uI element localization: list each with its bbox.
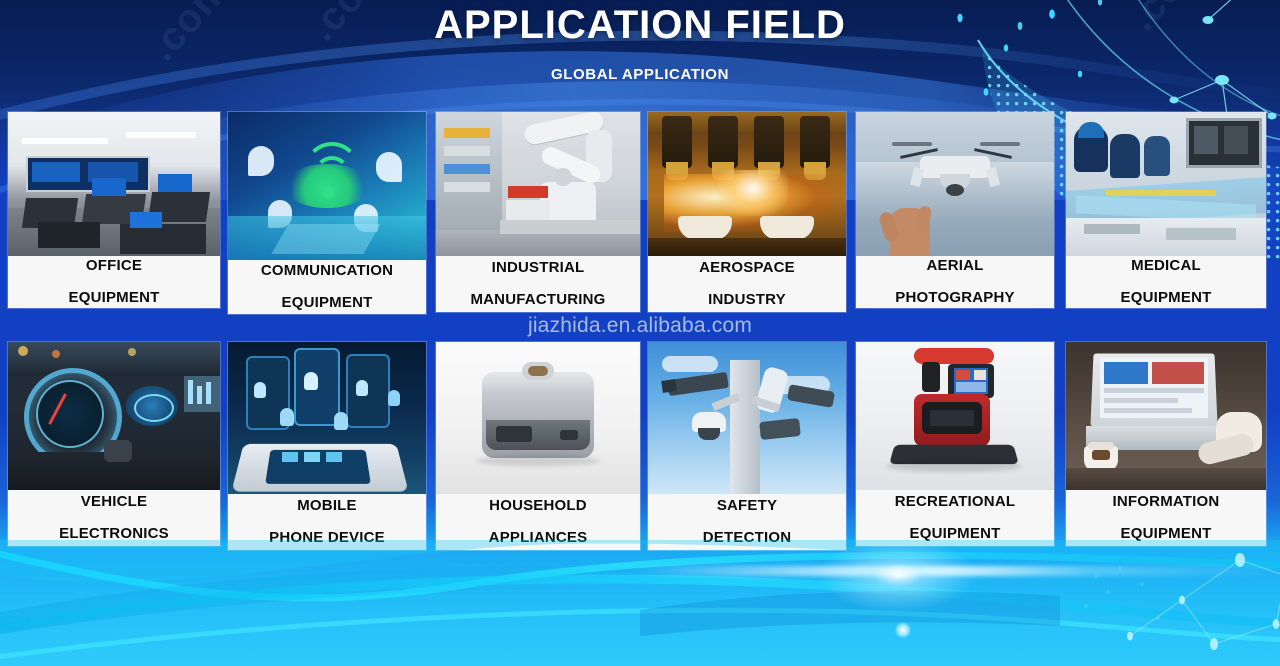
card-safety-detection[interactable]: SAFETYDETECTION <box>648 342 846 550</box>
card-label-line1: SAFETY <box>699 498 795 514</box>
card-image-industrial-manufacturing <box>436 112 640 256</box>
card-label-line1: INDUSTRIAL <box>466 260 609 276</box>
card-recreational-equipment[interactable]: RECREATIONALEQUIPMENT <box>856 342 1054 546</box>
card-image-communication-equipment <box>228 112 426 260</box>
card-label-line2: EQUIPMENT <box>1117 290 1216 306</box>
card-office-equipment[interactable]: OFFICEEQUIPMENT <box>8 112 220 308</box>
card-image-office-equipment <box>8 112 220 256</box>
poster-canvas: .com .com .com <box>0 0 1280 666</box>
card-label-line1: VEHICLE <box>55 494 173 510</box>
page-title: APPLICATION FIELD <box>0 3 1280 48</box>
card-label-line2: INDUSTRY <box>695 292 799 308</box>
card-medical-equipment[interactable]: MEDICALEQUIPMENT <box>1066 112 1266 308</box>
card-label-communication-equipment: COMMUNICATIONEQUIPMENT <box>228 260 426 314</box>
card-image-aerial-photography <box>856 112 1054 256</box>
card-label-vehicle-electronics: VEHICLEELECTRONICS <box>8 490 220 546</box>
card-label-household-appliances: HOUSEHOLDAPPLIANCES <box>436 494 640 550</box>
card-image-household-appliances <box>436 342 640 494</box>
card-image-vehicle-electronics <box>8 342 220 490</box>
card-industrial-manufacturing[interactable]: INDUSTRIALMANUFACTURING <box>436 112 640 312</box>
card-label-line1: COMMUNICATION <box>257 263 397 279</box>
card-label-line1: INFORMATION <box>1109 494 1224 510</box>
card-label-line2: EQUIPMENT <box>891 526 1019 542</box>
card-label-line2: EQUIPMENT <box>257 295 397 311</box>
card-image-mobile-phone-device <box>228 342 426 494</box>
card-household-appliances[interactable]: HOUSEHOLDAPPLIANCES <box>436 342 640 550</box>
card-label-line1: OFFICE <box>65 258 164 274</box>
card-label-line2: EQUIPMENT <box>65 290 164 306</box>
card-communication-equipment[interactable]: COMMUNICATIONEQUIPMENT <box>228 112 426 314</box>
application-card-grid: OFFICEEQUIPMENT COMMUNICATIONEQUIPMENT <box>0 112 1280 546</box>
card-label-information-equipment: INFORMATIONEQUIPMENT <box>1066 490 1266 546</box>
card-image-medical-equipment <box>1066 112 1266 256</box>
card-image-information-equipment <box>1066 342 1266 490</box>
card-label-line1: RECREATIONAL <box>891 494 1019 510</box>
card-label-line2: APPLIANCES <box>485 530 592 546</box>
card-label-line1: MEDICAL <box>1117 258 1216 274</box>
card-aerospace-industry[interactable]: AEROSPACEINDUSTRY <box>648 112 846 312</box>
card-vehicle-electronics[interactable]: VEHICLEELECTRONICS <box>8 342 220 546</box>
card-label-line2: PHOTOGRAPHY <box>891 290 1018 306</box>
card-label-mobile-phone-device: MOBILEPHONE DEVICE <box>228 494 426 550</box>
card-image-aerospace-industry <box>648 112 846 256</box>
card-label-line2: DETECTION <box>699 530 795 546</box>
card-label-safety-detection: SAFETYDETECTION <box>648 494 846 550</box>
card-label-line2: MANUFACTURING <box>466 292 609 308</box>
card-label-industrial-manufacturing: INDUSTRIALMANUFACTURING <box>436 256 640 312</box>
card-label-aerospace-industry: AEROSPACEINDUSTRY <box>648 256 846 312</box>
card-label-recreational-equipment: RECREATIONALEQUIPMENT <box>856 490 1054 546</box>
card-label-line2: PHONE DEVICE <box>265 530 389 546</box>
card-label-line1: HOUSEHOLD <box>485 498 592 514</box>
card-label-office-equipment: OFFICEEQUIPMENT <box>8 256 220 308</box>
card-label-medical-equipment: MEDICALEQUIPMENT <box>1066 256 1266 308</box>
card-mobile-phone-device[interactable]: MOBILEPHONE DEVICE <box>228 342 426 550</box>
card-label-line2: EQUIPMENT <box>1109 526 1224 542</box>
card-label-line2: ELECTRONICS <box>55 526 173 542</box>
card-image-recreational-equipment <box>856 342 1054 490</box>
page-subtitle: GLOBAL APPLICATION <box>0 66 1280 83</box>
card-information-equipment[interactable]: INFORMATIONEQUIPMENT <box>1066 342 1266 546</box>
card-label-line1: AEROSPACE <box>695 260 799 276</box>
card-image-safety-detection <box>648 342 846 494</box>
card-label-line1: MOBILE <box>265 498 389 514</box>
card-label-aerial-photography: AERIALPHOTOGRAPHY <box>856 256 1054 308</box>
card-aerial-photography[interactable]: AERIALPHOTOGRAPHY <box>856 112 1054 308</box>
card-label-line1: AERIAL <box>891 258 1018 274</box>
